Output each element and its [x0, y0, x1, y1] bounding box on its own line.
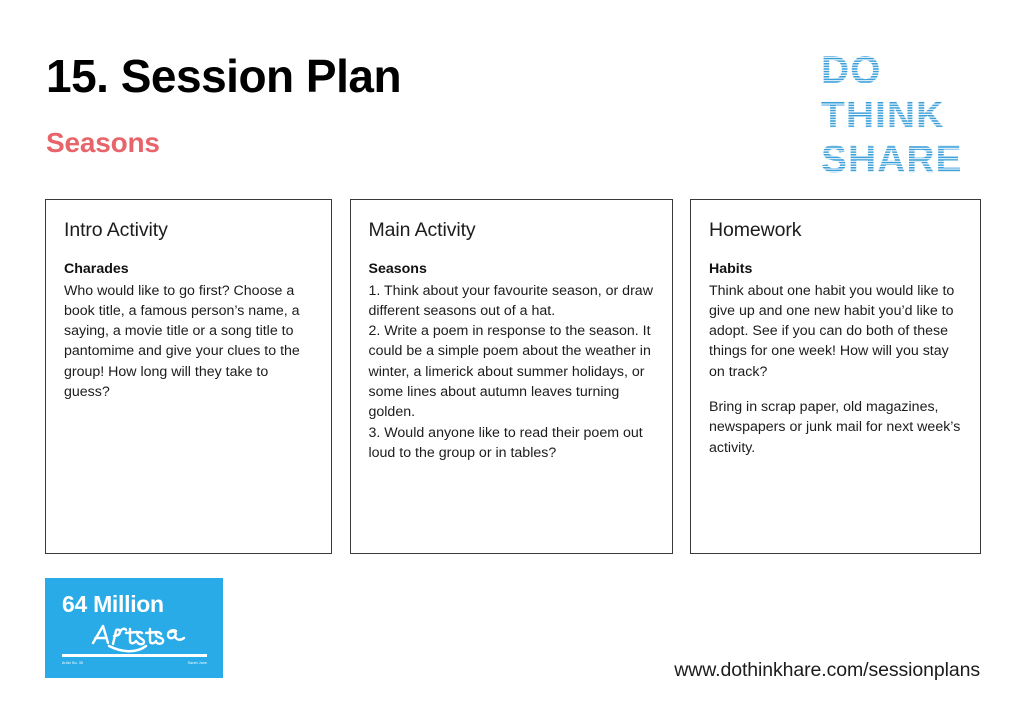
partner-logo-main-text: 64 Million — [62, 593, 164, 616]
box-heading: Homework — [709, 219, 962, 242]
page-subtitle: Seasons — [46, 128, 160, 159]
activity-box-intro-activity: Intro Activity Charades Who would like t… — [45, 199, 332, 554]
box-body-paragraph: Bring in scrap paper, old magazines, new… — [709, 397, 962, 458]
partner-logo-footnote-right: Sarah Jane — [188, 661, 207, 666]
partner-logo-script-text — [89, 620, 204, 654]
64-million-artists-logo: 64 Million Artist No. 35 Sarah Jane — [45, 578, 223, 678]
box-body-paragraph: 1. Think about your favourite season, or… — [369, 281, 654, 464]
do-think-share-logo: DO THINK SHARE DO THINK SHARE — [820, 50, 990, 175]
activity-box-main-activity: Main Activity Seasons 1. Think about you… — [350, 199, 673, 554]
partner-logo-footnote: Artist No. 35 Sarah Jane — [62, 661, 207, 666]
logo-line-do: DO — [821, 50, 882, 92]
partner-logo-footnote-left: Artist No. 35 — [62, 661, 83, 666]
box-subheading: Habits — [709, 260, 962, 279]
box-heading: Main Activity — [369, 219, 654, 242]
box-subheading: Charades — [64, 260, 313, 279]
footer-url[interactable]: www.dothinkhare.com/sessionplans — [674, 659, 980, 682]
box-body-paragraph: Who would like to go first? Choose a boo… — [64, 281, 313, 403]
activity-boxes-row: Intro Activity Charades Who would like t… — [45, 199, 981, 554]
logo-line-share: SHARE — [821, 138, 963, 175]
box-heading: Intro Activity — [64, 219, 313, 242]
box-body-paragraph: Think about one habit you would like to … — [709, 281, 962, 382]
page-title: 15. Session Plan — [46, 52, 401, 100]
logo-line-think: THINK — [821, 94, 945, 137]
partner-logo-divider — [62, 654, 207, 657]
activity-box-homework: Homework Habits Think about one habit yo… — [690, 199, 981, 554]
box-subheading: Seasons — [369, 260, 654, 279]
